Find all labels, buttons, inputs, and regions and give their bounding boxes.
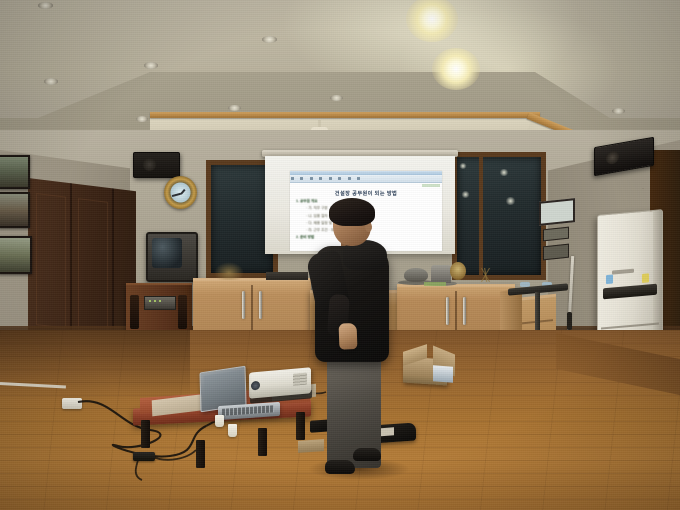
window-reflection bbox=[461, 191, 470, 198]
cabinet-handle[interactable] bbox=[242, 291, 245, 319]
downlight-icon bbox=[330, 95, 343, 101]
toolbar-icon bbox=[357, 177, 360, 180]
toolbar-icon bbox=[348, 177, 351, 180]
framed-photo-right-wall bbox=[539, 198, 575, 226]
air-conditioner-vent bbox=[603, 284, 657, 300]
presenter-shoe-left bbox=[325, 460, 355, 474]
framed-photo-bottom bbox=[0, 236, 32, 274]
air-conditioner-seam bbox=[601, 322, 659, 329]
black-power-strip[interactable] bbox=[133, 452, 155, 461]
presenter[interactable] bbox=[303, 196, 409, 492]
decorative-hat-b bbox=[431, 265, 451, 283]
toolbar-icon bbox=[329, 177, 332, 180]
toolbar-icon bbox=[319, 177, 322, 180]
deck-led bbox=[149, 300, 151, 302]
panel-seam bbox=[112, 188, 114, 348]
toolbar-icon bbox=[338, 177, 341, 180]
cardboard-box[interactable] bbox=[403, 348, 457, 384]
speaker-cone-icon bbox=[143, 158, 156, 171]
toolbar-icon bbox=[310, 177, 313, 180]
room-photo-scene: 건설장 공무원이 되는 방법 1. 공무원 개요 · 가. 직무 구분 · 나.… bbox=[0, 0, 680, 510]
paper-cup-2[interactable] bbox=[228, 424, 237, 437]
sunburst-wall-clock bbox=[164, 176, 197, 209]
wall-speaker-left bbox=[133, 152, 180, 178]
photo-image bbox=[0, 157, 28, 187]
window-mullion bbox=[479, 157, 483, 275]
crt-screen bbox=[152, 238, 182, 268]
toolbar-icon bbox=[300, 177, 303, 180]
photo-image bbox=[0, 238, 30, 272]
dried-branch-arrangement bbox=[466, 268, 508, 282]
framed-photo-middle bbox=[0, 192, 30, 228]
speaker-cone-icon bbox=[606, 150, 619, 165]
air-conditioner-logo bbox=[612, 269, 634, 275]
window-reflection bbox=[499, 169, 509, 176]
deck-led bbox=[159, 300, 161, 302]
cabinet-handle[interactable] bbox=[259, 291, 262, 319]
deck-led bbox=[154, 300, 156, 302]
laptop-display bbox=[204, 370, 243, 406]
table-leg bbox=[196, 440, 205, 468]
audio-deck[interactable] bbox=[144, 296, 176, 310]
air-conditioner-sticker-blue bbox=[606, 274, 613, 284]
downlight-lit-icon bbox=[432, 48, 480, 90]
laptop-keyboard[interactable] bbox=[222, 405, 274, 416]
crt-television bbox=[146, 232, 198, 282]
panel-inset bbox=[78, 198, 108, 334]
pointer-grip bbox=[567, 312, 572, 330]
decorative-mask bbox=[450, 262, 466, 280]
toolbar-icon bbox=[291, 177, 294, 180]
wall-plaque-lower bbox=[543, 244, 569, 261]
downlight-icon bbox=[144, 62, 158, 69]
downlight-icon bbox=[262, 36, 277, 43]
equipment-on-cabinet bbox=[266, 272, 308, 280]
green-item-on-cabinet bbox=[424, 282, 446, 286]
ceiling-trim-center bbox=[150, 112, 540, 118]
presenter-raised-hand bbox=[339, 323, 358, 350]
framed-photo-top bbox=[0, 155, 30, 189]
panel-seam bbox=[70, 183, 72, 343]
speaker-grill-left bbox=[130, 295, 139, 329]
cabinet-handle[interactable] bbox=[463, 297, 466, 325]
downlight-icon bbox=[38, 2, 53, 9]
paper-cup-1[interactable] bbox=[215, 415, 224, 427]
slide-side-tab bbox=[422, 184, 440, 187]
air-conditioner-sticker-yellow bbox=[642, 273, 649, 283]
table-leg bbox=[141, 420, 150, 448]
cabinet-handle[interactable] bbox=[446, 297, 449, 325]
downlight-icon bbox=[228, 105, 241, 111]
presenter-shoe-right bbox=[353, 448, 381, 461]
speaker-grill-right bbox=[178, 295, 187, 329]
table-leg bbox=[258, 428, 267, 456]
downlight-icon bbox=[44, 78, 58, 85]
projector[interactable] bbox=[249, 367, 311, 398]
downlight-icon bbox=[136, 116, 148, 122]
panel-inset bbox=[36, 193, 66, 329]
box-contents bbox=[433, 365, 453, 382]
downlight-icon bbox=[612, 108, 625, 114]
window-right bbox=[452, 152, 546, 280]
slide-window-toolbar bbox=[290, 175, 442, 183]
window-reflection bbox=[505, 197, 516, 205]
dried-flower-arrangement bbox=[214, 262, 244, 280]
projector-lens-icon bbox=[251, 381, 260, 391]
presenter-forearm bbox=[327, 294, 350, 337]
photo-image bbox=[0, 194, 28, 226]
window-reflection bbox=[459, 163, 467, 169]
presenter-hair bbox=[329, 198, 375, 226]
